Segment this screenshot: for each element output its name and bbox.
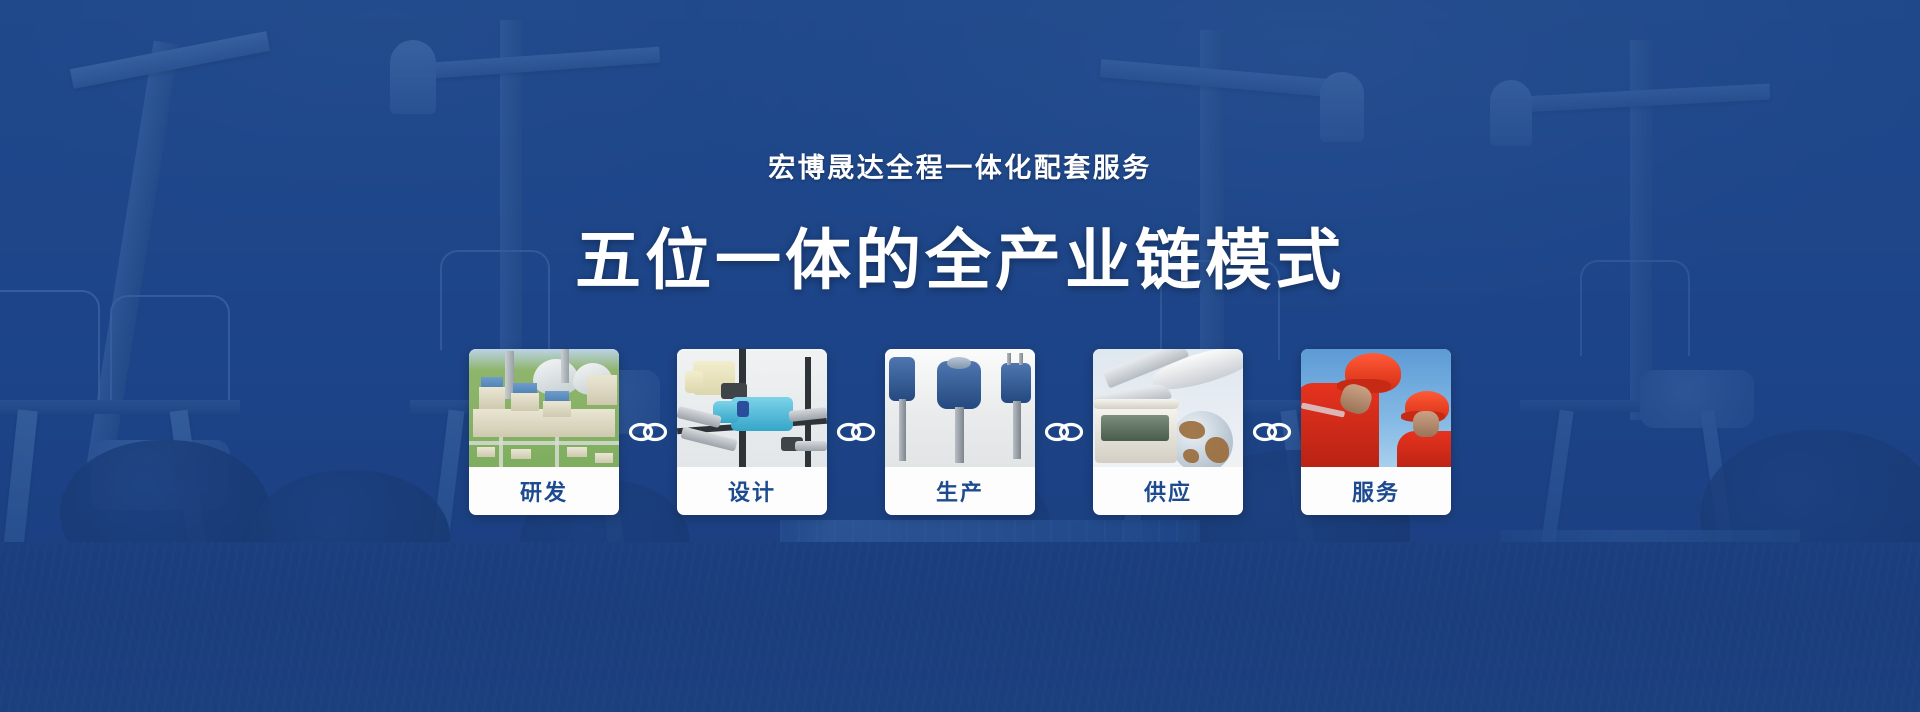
- chain-link-icon: [1243, 412, 1301, 452]
- promo-banner: 宏博晟达全程一体化配套服务 五位一体的全产业链模式: [0, 0, 1920, 712]
- chain-link-icon: [1035, 412, 1093, 452]
- chain-card-production[interactable]: 生产: [885, 349, 1035, 515]
- chain-card-label: 生产: [885, 467, 1035, 515]
- blue-level-instruments-image: [885, 349, 1035, 467]
- banner-content: 宏博晟达全程一体化配套服务 五位一体的全产业链模式: [0, 0, 1920, 712]
- chain-card-label: 供应: [1093, 467, 1243, 515]
- banner-headline: 五位一体的全产业链模式: [575, 207, 1345, 303]
- cad-pump-valve-rendering-image: [677, 349, 827, 467]
- chain-card-rd[interactable]: 研发: [469, 349, 619, 515]
- chain-link-icon: [827, 412, 885, 452]
- chain-card-label: 设计: [677, 467, 827, 515]
- value-chain-list: 研发: [469, 349, 1451, 515]
- chain-card-label: 服务: [1301, 467, 1451, 515]
- chain-card-label: 研发: [469, 467, 619, 515]
- workers-red-uniform-hardhat-image: [1301, 349, 1451, 467]
- industrial-plant-aerial-image: [469, 349, 619, 467]
- airplane-truck-globe-logistics-image: [1093, 349, 1243, 467]
- banner-subtitle: 宏博晟达全程一体化配套服务: [768, 146, 1152, 185]
- chain-card-design[interactable]: 设计: [677, 349, 827, 515]
- chain-card-supply[interactable]: 供应: [1093, 349, 1243, 515]
- chain-link-icon: [619, 412, 677, 452]
- chain-card-service[interactable]: 服务: [1301, 349, 1451, 515]
